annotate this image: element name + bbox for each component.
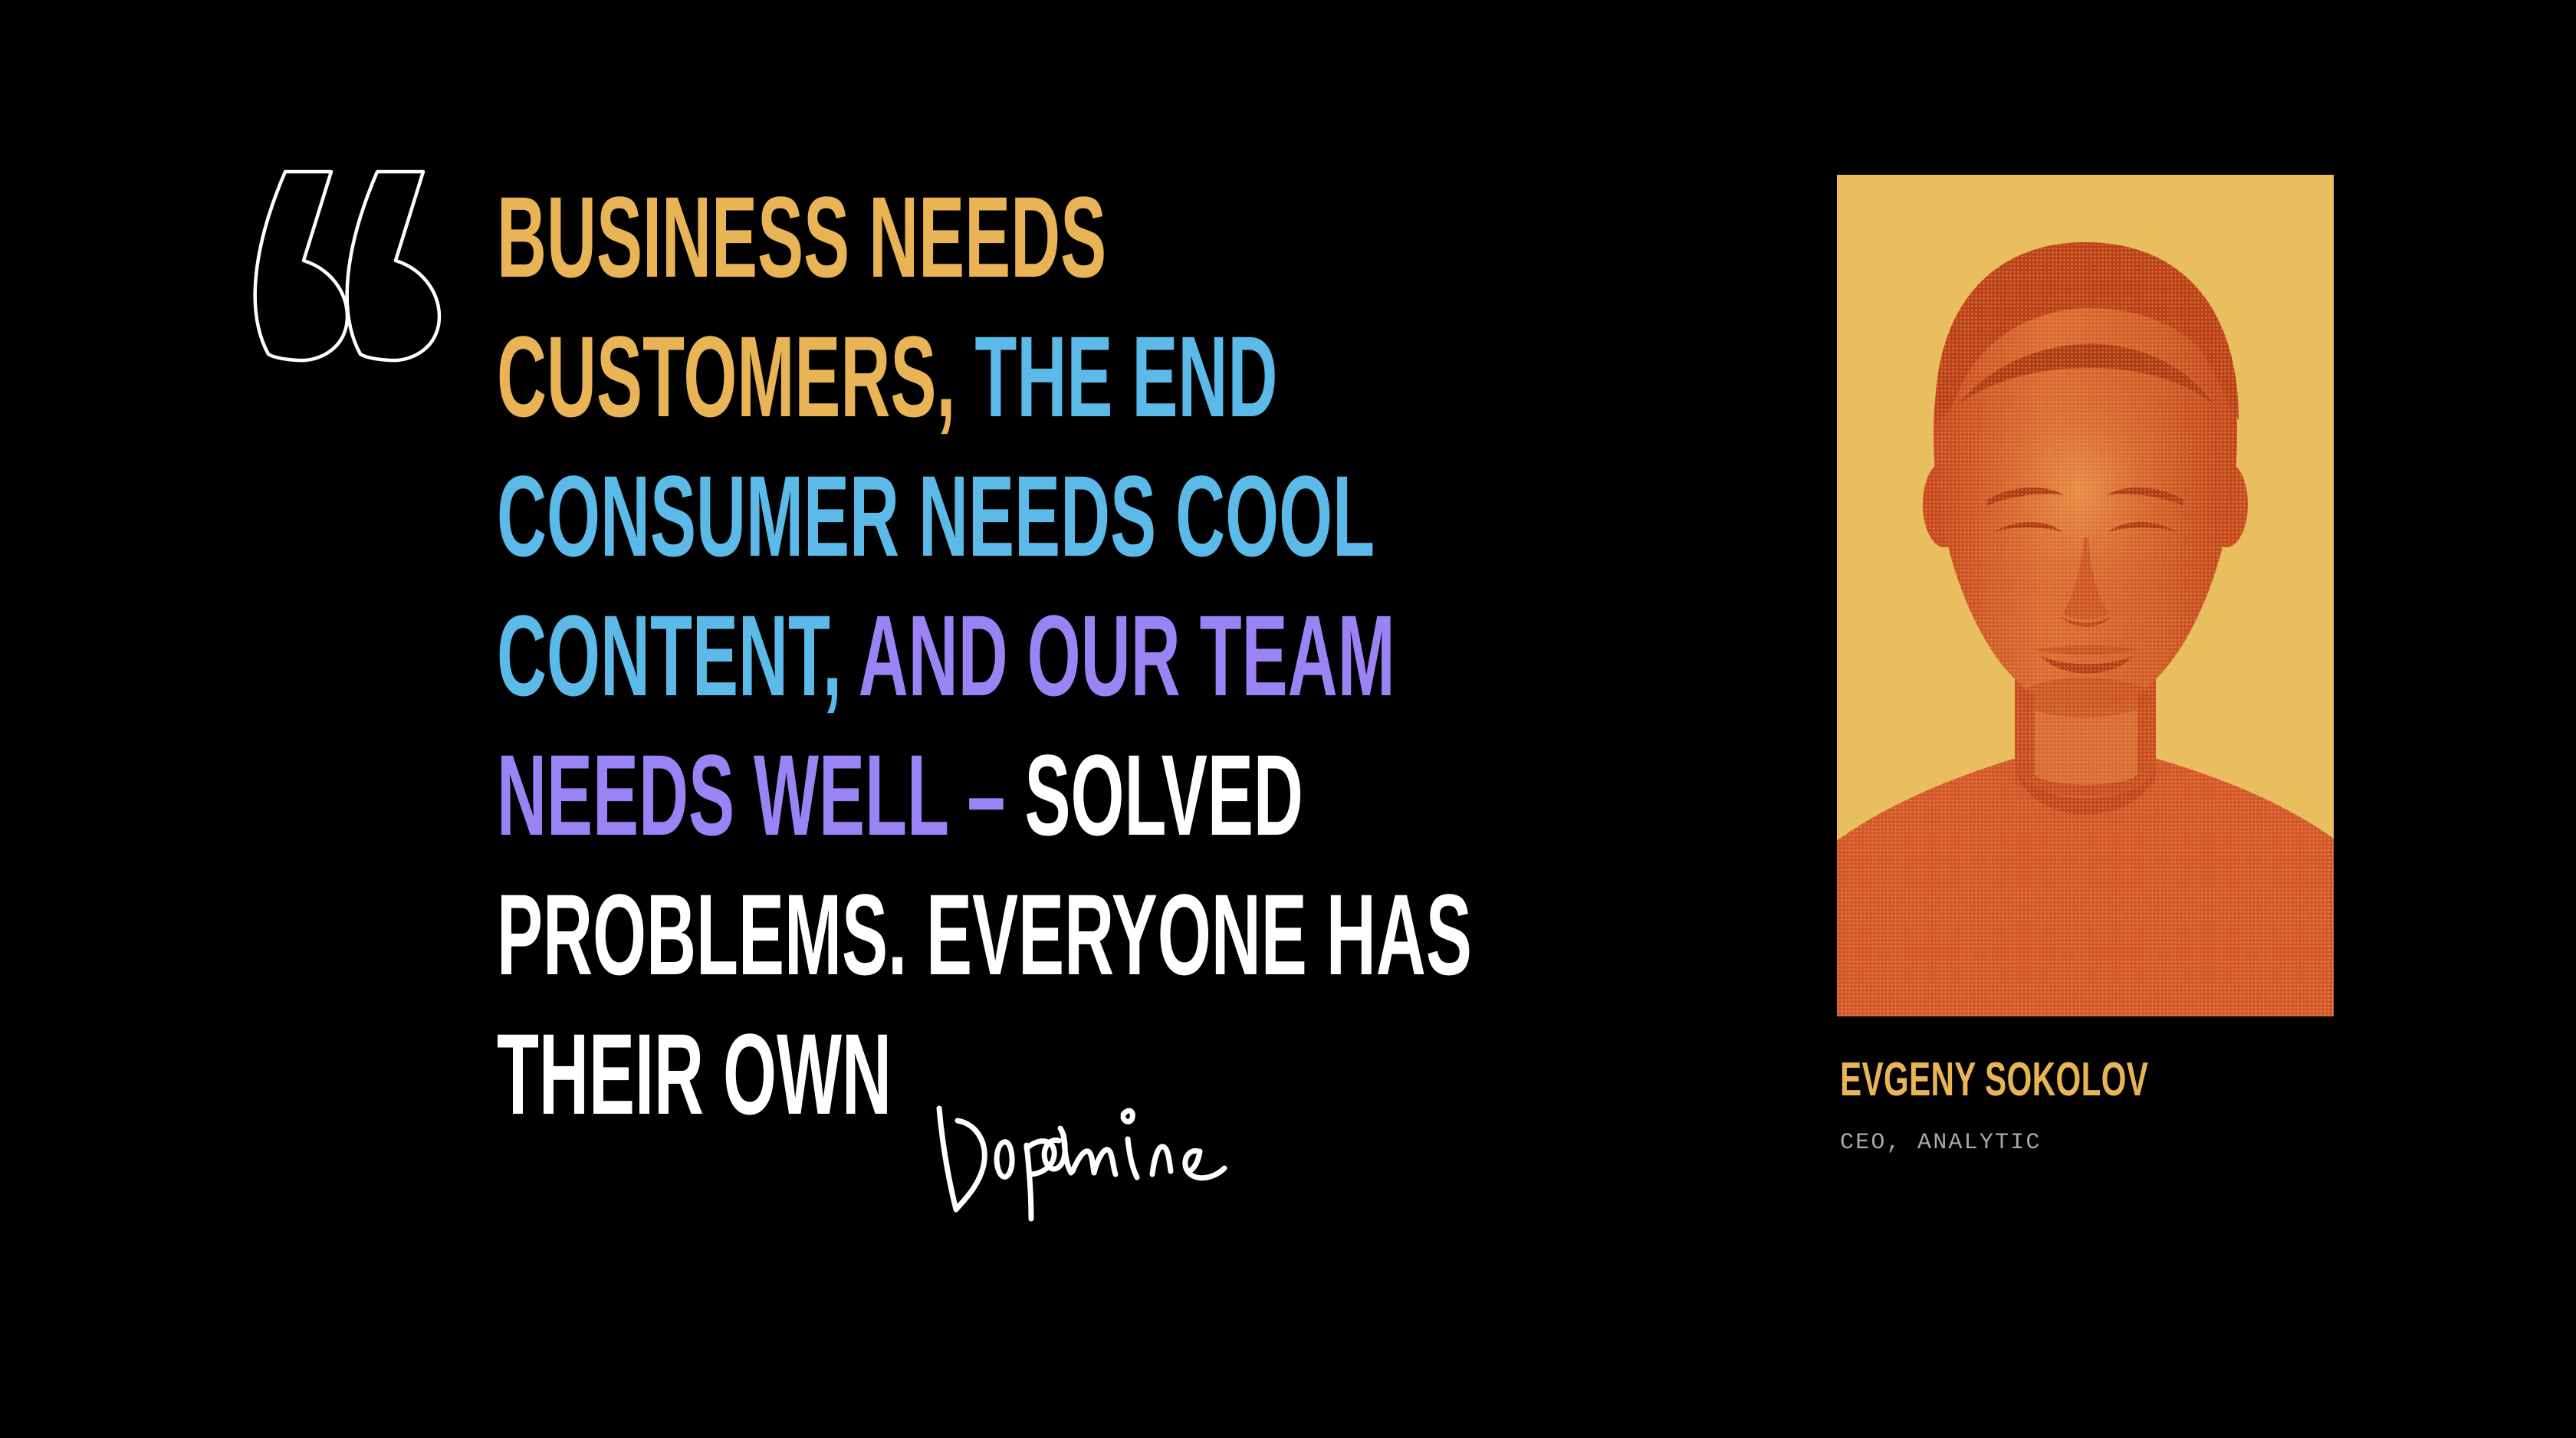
- quote-text-block: BUSINESS NEEDS CUSTOMERS, THE END CONSUM…: [497, 167, 1693, 1144]
- quote-segment: AND OUR TEAM: [842, 591, 1395, 720]
- quote-segment: THEIR OWN: [497, 1010, 892, 1138]
- quote-segment: CONTENT,: [497, 591, 842, 720]
- person-role: CEO, ANALYTIC: [1840, 1130, 2423, 1156]
- quote-line-6: PROBLEMS. EVERYONE HAS: [497, 865, 1693, 1004]
- quote-line-5: NEEDS WELL – SOLVED: [497, 725, 1693, 865]
- person-name: EVGENY SOKOLOV: [1840, 1056, 2423, 1104]
- quote-mark-icon: [239, 163, 462, 354]
- portrait-image: [1837, 175, 2334, 1016]
- quote-segment: BUSINESS NEEDS: [497, 172, 1106, 301]
- portrait-card: [1837, 175, 2334, 1016]
- quote-segment: THE END: [955, 312, 1277, 441]
- quote-segment: PROBLEMS. EVERYONE HAS: [497, 870, 1472, 999]
- quote-slide: BUSINESS NEEDS CUSTOMERS, THE END CONSUM…: [0, 0, 2576, 1438]
- quote-line-2: CUSTOMERS, THE END: [497, 307, 1693, 446]
- quote-line-3: CONSUMER NEEDS COOL: [497, 446, 1693, 586]
- quote-segment: CONSUMER NEEDS COOL: [497, 451, 1375, 580]
- quote-segment: NEEDS WELL: [497, 730, 948, 859]
- attribution-block: EVGENY SOKOLOV CEO, ANALYTIC: [1840, 1056, 2423, 1156]
- quote-line-4: CONTENT, AND OUR TEAM: [497, 586, 1693, 725]
- quote-dash: –: [948, 730, 1005, 859]
- quote-line-7: THEIR OWN: [497, 1004, 1693, 1144]
- quote-segment: SOLVED: [1005, 730, 1303, 859]
- quote-segment: CUSTOMERS,: [497, 312, 955, 441]
- quote-line-1: BUSINESS NEEDS: [497, 167, 1693, 307]
